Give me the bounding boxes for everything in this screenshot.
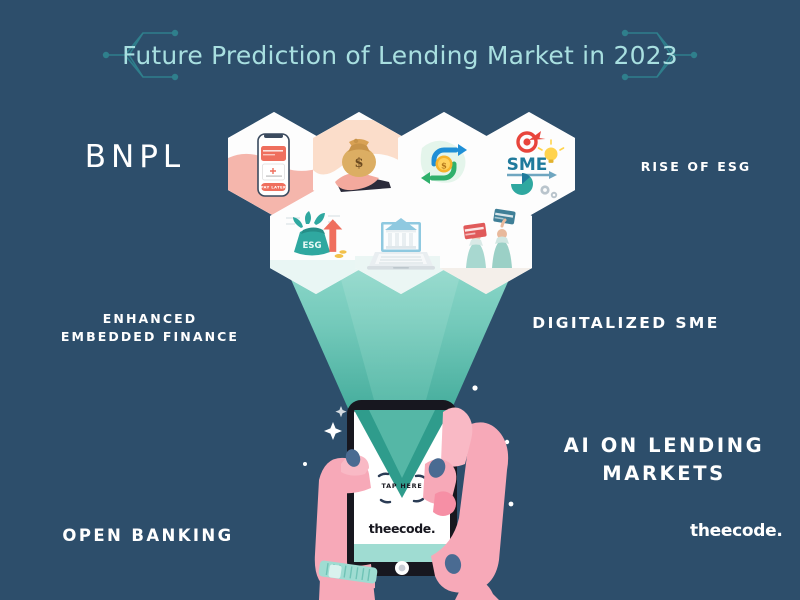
hexagon-cluster: PAY LATER $ bbox=[228, 112, 578, 302]
phone-screen-logo: theecode. bbox=[369, 521, 435, 536]
hex-caption-pay-later: PAY LATER bbox=[261, 185, 287, 190]
label-open-banking: OPEN BANKING bbox=[34, 524, 262, 548]
header: Future Prediction of Lending Market in 2… bbox=[0, 22, 800, 88]
label-ai-line2: MARKETS bbox=[540, 460, 788, 488]
hex-caption-esg: ESG bbox=[302, 241, 321, 251]
svg-text:$: $ bbox=[441, 161, 447, 171]
svg-text:$: $ bbox=[354, 156, 363, 171]
phone-tap-here-label: TAP HERE bbox=[381, 482, 422, 490]
label-ai-line1: AI ON LENDING bbox=[540, 432, 788, 460]
page-title: Future Prediction of Lending Market in 2… bbox=[122, 41, 678, 70]
label-ai-on-lending-markets: AI ON LENDING MARKETS bbox=[540, 432, 788, 489]
label-eef-line2: EMBEDDED FINANCE bbox=[42, 328, 258, 346]
label-rise-of-esg: RISE OF ESG bbox=[598, 158, 794, 176]
label-eef-line1: ENHANCED bbox=[42, 310, 258, 328]
infographic-canvas: Future Prediction of Lending Market in 2… bbox=[0, 0, 800, 600]
brand-logo-text: theecode bbox=[690, 521, 776, 541]
brand-logo-dot: . bbox=[776, 521, 782, 541]
phone-in-hands-illustration: TAP HERE theecode. bbox=[275, 368, 530, 600]
label-enhanced-embedded-finance: ENHANCED EMBEDDED FINANCE bbox=[42, 310, 258, 346]
hex-caption-sme: SME bbox=[507, 155, 548, 175]
label-bnpl: BNPL bbox=[40, 135, 230, 180]
brand-logo: theecode. bbox=[690, 521, 790, 547]
label-digitalized-sme: DIGITALIZED SME bbox=[510, 312, 742, 334]
